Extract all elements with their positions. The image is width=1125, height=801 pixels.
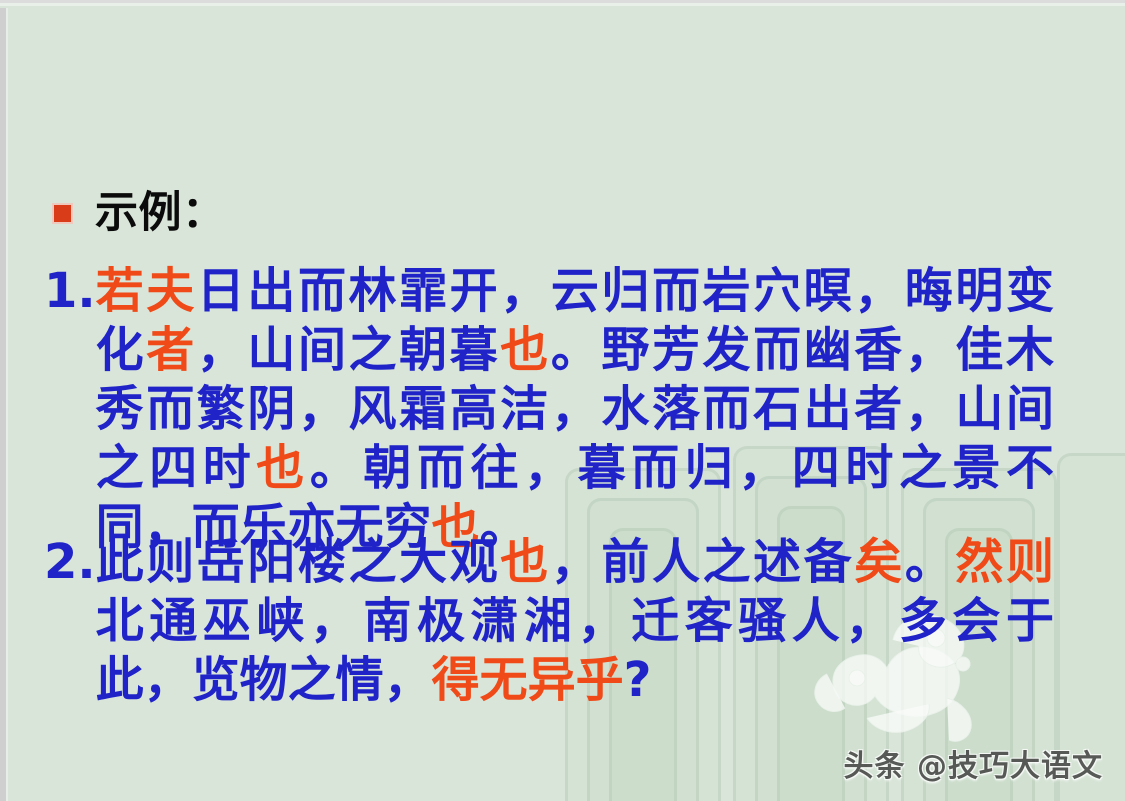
square-bullet-icon [52, 203, 73, 224]
normal-run: 此则岳阳楼之大观 [96, 534, 501, 590]
slide-canvas: 示例： 1. 若夫日出而林霏开，云归而岩穴暝，晦明变化者，山间之朝暮也。野芳发而… [0, 0, 1125, 801]
item-number-2: 2. [44, 533, 96, 592]
normal-run: ? [624, 652, 652, 708]
normal-run: ，山间之朝暮 [197, 322, 500, 378]
example-heading: 示例： [52, 192, 226, 235]
item-number-1: 1. [44, 262, 96, 321]
slide-content: 示例： 1. 若夫日出而林霏开，云归而岩穴暝，晦明变化者，山间之朝暮也。野芳发而… [0, 0, 1125, 801]
highlighted-run: 若夫 [96, 263, 197, 319]
highlighted-run: 也 [256, 440, 310, 496]
highlighted-run: 得无异乎 [432, 652, 624, 708]
example-item-1: 1. 若夫日出而林霏开，云归而岩穴暝，晦明变化者，山间之朝暮也。野芳发而幽香，佳… [44, 262, 1054, 557]
example-item-2: 2. 此则岳阳楼之大观也，前人之述备矣。然则北通巫峡，南极潇湘，迁客骚人，多会于… [44, 533, 1054, 710]
watermark: 头条 @技巧大语文 [844, 741, 1103, 785]
example-heading-label: 示例： [95, 192, 226, 235]
item-text-1: 若夫日出而林霏开，云归而岩穴暝，晦明变化者，山间之朝暮也。野芳发而幽香，佳木秀而… [96, 262, 1054, 557]
highlighted-run: 者 [146, 322, 197, 378]
highlighted-run: 然则 [955, 534, 1054, 590]
item-text-2: 此则岳阳楼之大观也，前人之述备矣。然则北通巫峡，南极潇湘，迁客骚人，多会于此，览… [96, 533, 1054, 710]
highlighted-run: 也 [500, 534, 551, 590]
normal-run: 。 [905, 534, 956, 590]
highlighted-run: 矣 [854, 534, 905, 590]
normal-run: ，前人之述备 [551, 534, 854, 590]
highlighted-run: 也 [500, 322, 551, 378]
